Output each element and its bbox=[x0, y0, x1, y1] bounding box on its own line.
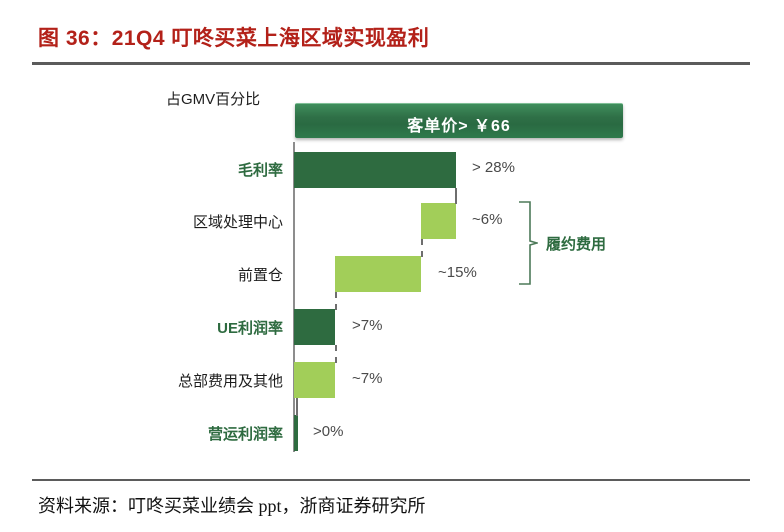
connector-3 bbox=[335, 292, 337, 310]
title-divider bbox=[32, 62, 750, 65]
aov-banner: 客单价> ￥66 bbox=[295, 103, 623, 138]
fulfillment-cost-label: 履约费用 bbox=[546, 233, 606, 254]
baseline-axis bbox=[293, 142, 295, 452]
bar-gross-margin bbox=[294, 152, 456, 188]
row-label-regional-center: 区域处理中心 bbox=[193, 211, 283, 232]
fulfillment-brace-icon bbox=[516, 200, 538, 286]
bar-operating-margin bbox=[294, 415, 298, 451]
row-label-ue-margin: UE利润率 bbox=[217, 317, 283, 338]
value-label-gross-margin: > 28% bbox=[472, 159, 515, 176]
bar-ue-margin bbox=[294, 309, 335, 345]
connector-2 bbox=[421, 239, 423, 257]
bar-regional-center bbox=[421, 203, 456, 239]
row-label-front-warehouse: 前置仓 bbox=[238, 264, 283, 285]
waterfall-chart: 占GMV百分比 客单价> ￥66 毛利率 区域处理中心 前置仓 UE利润率 总部… bbox=[0, 70, 784, 465]
value-label-regional-center: ~6% bbox=[472, 211, 502, 228]
connector-1 bbox=[455, 188, 457, 204]
source-note: 资料来源：叮咚买菜业绩会 ppt，浙商证券研究所 bbox=[38, 492, 426, 518]
bar-front-warehouse bbox=[335, 256, 421, 292]
bar-hq-expense bbox=[294, 362, 335, 398]
aov-banner-label: 客单价> ￥66 bbox=[295, 112, 623, 136]
page-title: 图 36：21Q4 叮咚买菜上海区域实现盈利 bbox=[38, 22, 429, 52]
row-label-hq-expense: 总部费用及其他 bbox=[178, 370, 283, 391]
value-label-front-warehouse: ~15% bbox=[438, 264, 477, 281]
connector-4 bbox=[335, 345, 337, 363]
footer-divider bbox=[32, 479, 750, 481]
value-label-hq-expense: ~7% bbox=[352, 370, 382, 387]
value-label-operating-margin: >0% bbox=[313, 423, 343, 440]
connector-5 bbox=[296, 398, 298, 416]
row-label-operating-margin: 营运利润率 bbox=[208, 423, 283, 444]
row-label-gross-margin: 毛利率 bbox=[238, 159, 283, 180]
value-label-ue-margin: >7% bbox=[352, 317, 382, 334]
y-axis-caption: 占GMV百分比 bbox=[166, 88, 260, 109]
